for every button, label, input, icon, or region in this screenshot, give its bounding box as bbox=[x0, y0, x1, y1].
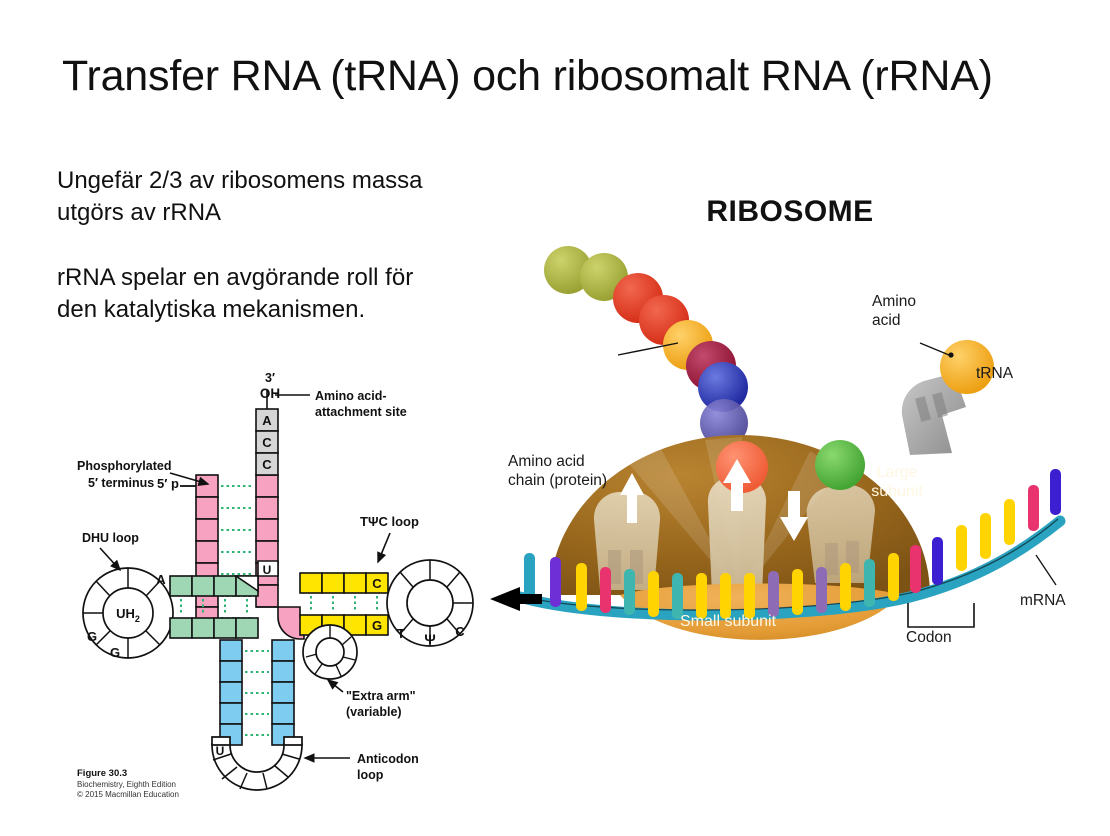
base-g1: G bbox=[87, 629, 97, 644]
label-anticodon-loop-sub: loop bbox=[357, 768, 384, 782]
ribosome-figure: RIBOSOME Amino acid chain (protein) Amin… bbox=[480, 165, 1100, 685]
label-large-subunit-line2: subunit bbox=[871, 483, 923, 500]
label-amino-acid-chain-line1: Amino acid bbox=[508, 453, 585, 470]
label-three-prime: 3′ bbox=[265, 371, 275, 385]
label-anticodon-loop: Anticodon bbox=[357, 752, 419, 766]
credit-source: Biochemistry, Eighth Edition bbox=[77, 780, 179, 790]
base-psi-tpsic: Ψ bbox=[424, 631, 435, 647]
codon-bracket bbox=[908, 603, 974, 627]
page-title: Transfer RNA (tRNA) och ribosomalt RNA (… bbox=[62, 52, 1042, 101]
ribosome-diagram-svg bbox=[480, 165, 1100, 685]
mrna-leader bbox=[1036, 555, 1056, 585]
label-large-subunit: Large subunit bbox=[852, 463, 942, 501]
label-amino-acid-chain: Amino acid chain (protein) bbox=[508, 453, 607, 490]
base-c-tpsic-bottom: C bbox=[455, 624, 465, 639]
anticodon-stem-left bbox=[220, 640, 242, 745]
base-c1: C bbox=[262, 435, 272, 450]
label-amino-acid-attachment: Amino acid- bbox=[315, 389, 387, 403]
trna-cloverleaf-figure: A C C bbox=[60, 370, 500, 820]
label-amino-acid-line1: Amino bbox=[872, 293, 916, 310]
label-amino-acid-line2: acid bbox=[872, 312, 900, 329]
amino-acid-chain bbox=[544, 246, 748, 447]
base-c-tpsic-top: C bbox=[372, 576, 382, 591]
dhu-stem-lower bbox=[170, 618, 258, 638]
acceptor-stem-left bbox=[196, 475, 218, 629]
trna-diagram-svg: A C C bbox=[60, 370, 500, 820]
figure-credit: Figure 30.3 Biochemistry, Eighth Edition… bbox=[77, 768, 179, 800]
label-extra-arm: "Extra arm" bbox=[346, 689, 416, 703]
acceptor-stem-right bbox=[256, 475, 278, 607]
label-large-subunit-line1: Large bbox=[877, 464, 918, 481]
free-trna bbox=[902, 340, 994, 455]
base-u-anticodon: U bbox=[216, 744, 225, 758]
label-amino-acid-attachment-2: attachment site bbox=[315, 405, 407, 419]
base-g2: G bbox=[110, 645, 120, 660]
body-paragraph-2: rRNA spelar en avgörande roll för den ka… bbox=[57, 262, 457, 325]
anticodon-loop-shape bbox=[212, 737, 302, 790]
body-text-block: Ungefär 2/3 av ribosomens massa utgörs a… bbox=[57, 165, 457, 326]
label-five-prime-p: 5′ p bbox=[157, 476, 179, 491]
credit-copyright: © 2015 Macmillan Education bbox=[77, 790, 179, 800]
base-a-dhu: A bbox=[156, 572, 166, 587]
ribosome-title: RIBOSOME bbox=[480, 195, 1100, 229]
anticodon-hbonds bbox=[245, 651, 269, 735]
label-codon: Codon bbox=[906, 629, 952, 648]
label-amino-acid: Amino acid bbox=[872, 293, 916, 330]
base-c2: C bbox=[262, 457, 272, 472]
tpsic-hbonds bbox=[311, 596, 377, 612]
label-extra-arm-sub: (variable) bbox=[346, 705, 402, 719]
base-t-tpsic: T bbox=[397, 626, 405, 641]
label-mrna: mRNA bbox=[1020, 592, 1066, 611]
body-paragraph-1: Ungefär 2/3 av ribosomens massa utgörs a… bbox=[57, 165, 457, 228]
base-a: A bbox=[262, 413, 272, 428]
acceptor-stem-elbow bbox=[256, 607, 304, 639]
label-phosphorylated: Phosphorylated bbox=[77, 459, 171, 473]
label-dhu-loop: DHU loop bbox=[82, 531, 139, 545]
label-trna: tRNA bbox=[976, 365, 1013, 384]
label-tpsic-loop: TΨC loop bbox=[360, 514, 419, 529]
anticodon-stem-right bbox=[272, 640, 294, 745]
label-small-subunit: Small subunit bbox=[680, 612, 776, 631]
credit-figure-number: Figure 30.3 bbox=[77, 768, 179, 780]
label-amino-acid-chain-line2: chain (protein) bbox=[508, 472, 607, 489]
slide-canvas: Transfer RNA (tRNA) och ribosomalt RNA (… bbox=[0, 0, 1110, 836]
base-g-tpsic: G bbox=[372, 618, 382, 633]
label-five-prime-terminus: 5′ terminus bbox=[88, 476, 154, 490]
label-oh: OH bbox=[260, 386, 280, 401]
base-u-acceptor: U bbox=[263, 563, 272, 577]
acceptor-hbonds bbox=[221, 486, 253, 618]
